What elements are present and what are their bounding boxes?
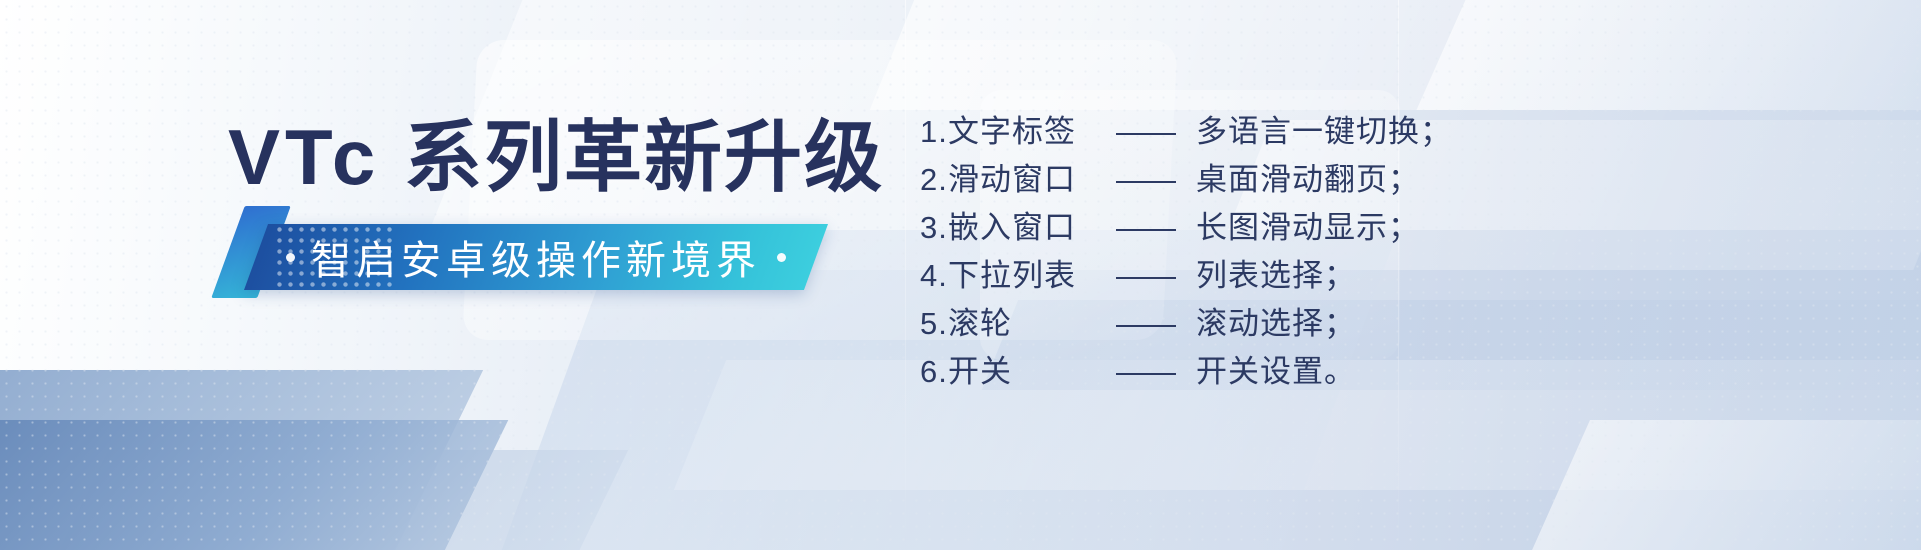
corner-wedge-b (0, 420, 508, 550)
corner-wedge-top-right (1416, 0, 1921, 110)
item-name: 滚轮 (948, 300, 1110, 348)
item-dash: —— (1110, 300, 1180, 348)
ribbon-body: 智启安卓级操作新境界 (244, 224, 828, 290)
item-description: 开关设置。 (1180, 348, 1356, 396)
item-dash: —— (1110, 348, 1180, 396)
title-latin: VTc (228, 113, 380, 201)
item-dash: —— (1110, 156, 1180, 204)
item-description: 多语言一键切换； (1180, 108, 1452, 156)
subtitle-text-group: 智启安卓级操作新境界 (286, 228, 786, 286)
item-dash: —— (1110, 204, 1180, 252)
list-item: 3. 嵌入窗口 —— 长图滑动显示； (920, 204, 1452, 252)
corner-wedge-c (0, 450, 628, 550)
promo-banner: VTc 系列革新升级 智启安卓级操作新境界 1. 文字标签 —— 多语言一键切换… (0, 0, 1921, 550)
item-index: 3. (920, 204, 948, 252)
item-description: 滚动选择； (1180, 300, 1356, 348)
item-dash: —— (1110, 108, 1180, 156)
bullet-dot-left-icon (286, 253, 295, 262)
list-item: 2. 滑动窗口 —— 桌面滑动翻页； (920, 156, 1452, 204)
title-chinese: 系列革新升级 (404, 113, 884, 201)
item-dash: —— (1110, 252, 1180, 300)
item-index: 1. (920, 108, 948, 156)
bullet-dot-right-icon (777, 253, 786, 262)
subtitle-text: 智启安卓级操作新境界 (311, 228, 761, 286)
item-index: 4. (920, 252, 948, 300)
subtitle-ribbon: 智启安卓级操作新境界 (228, 224, 828, 296)
item-name: 嵌入窗口 (948, 204, 1110, 252)
feature-list: 1. 文字标签 —— 多语言一键切换； 2. 滑动窗口 —— 桌面滑动翻页； 3… (920, 108, 1452, 396)
page-title: VTc 系列革新升级 (228, 118, 868, 196)
list-item: 1. 文字标签 —— 多语言一键切换； (920, 108, 1452, 156)
item-index: 5. (920, 300, 948, 348)
list-item: 6. 开关 —— 开关设置。 (920, 348, 1452, 396)
item-name: 下拉列表 (948, 252, 1110, 300)
item-description: 桌面滑动翻页； (1180, 156, 1420, 204)
item-description: 列表选择； (1180, 252, 1356, 300)
item-name: 文字标签 (948, 108, 1110, 156)
item-name: 滑动窗口 (948, 156, 1110, 204)
corner-wedge-a (0, 370, 483, 550)
item-description: 长图滑动显示； (1180, 204, 1420, 252)
vertical-light-line-1 (905, 0, 906, 550)
list-item: 5. 滚轮 —— 滚动选择； (920, 300, 1452, 348)
ribbon-content: 智启安卓级操作新境界 (256, 224, 816, 290)
list-item: 4. 下拉列表 —— 列表选择； (920, 252, 1452, 300)
headline-block: VTc 系列革新升级 智启安卓级操作新境界 (228, 118, 868, 296)
corner-wedge-right (1492, 420, 1921, 550)
diagonal-sweep-2 (870, 0, 1921, 110)
item-index: 6. (920, 348, 948, 396)
item-index: 2. (920, 156, 948, 204)
item-name: 开关 (948, 348, 1110, 396)
